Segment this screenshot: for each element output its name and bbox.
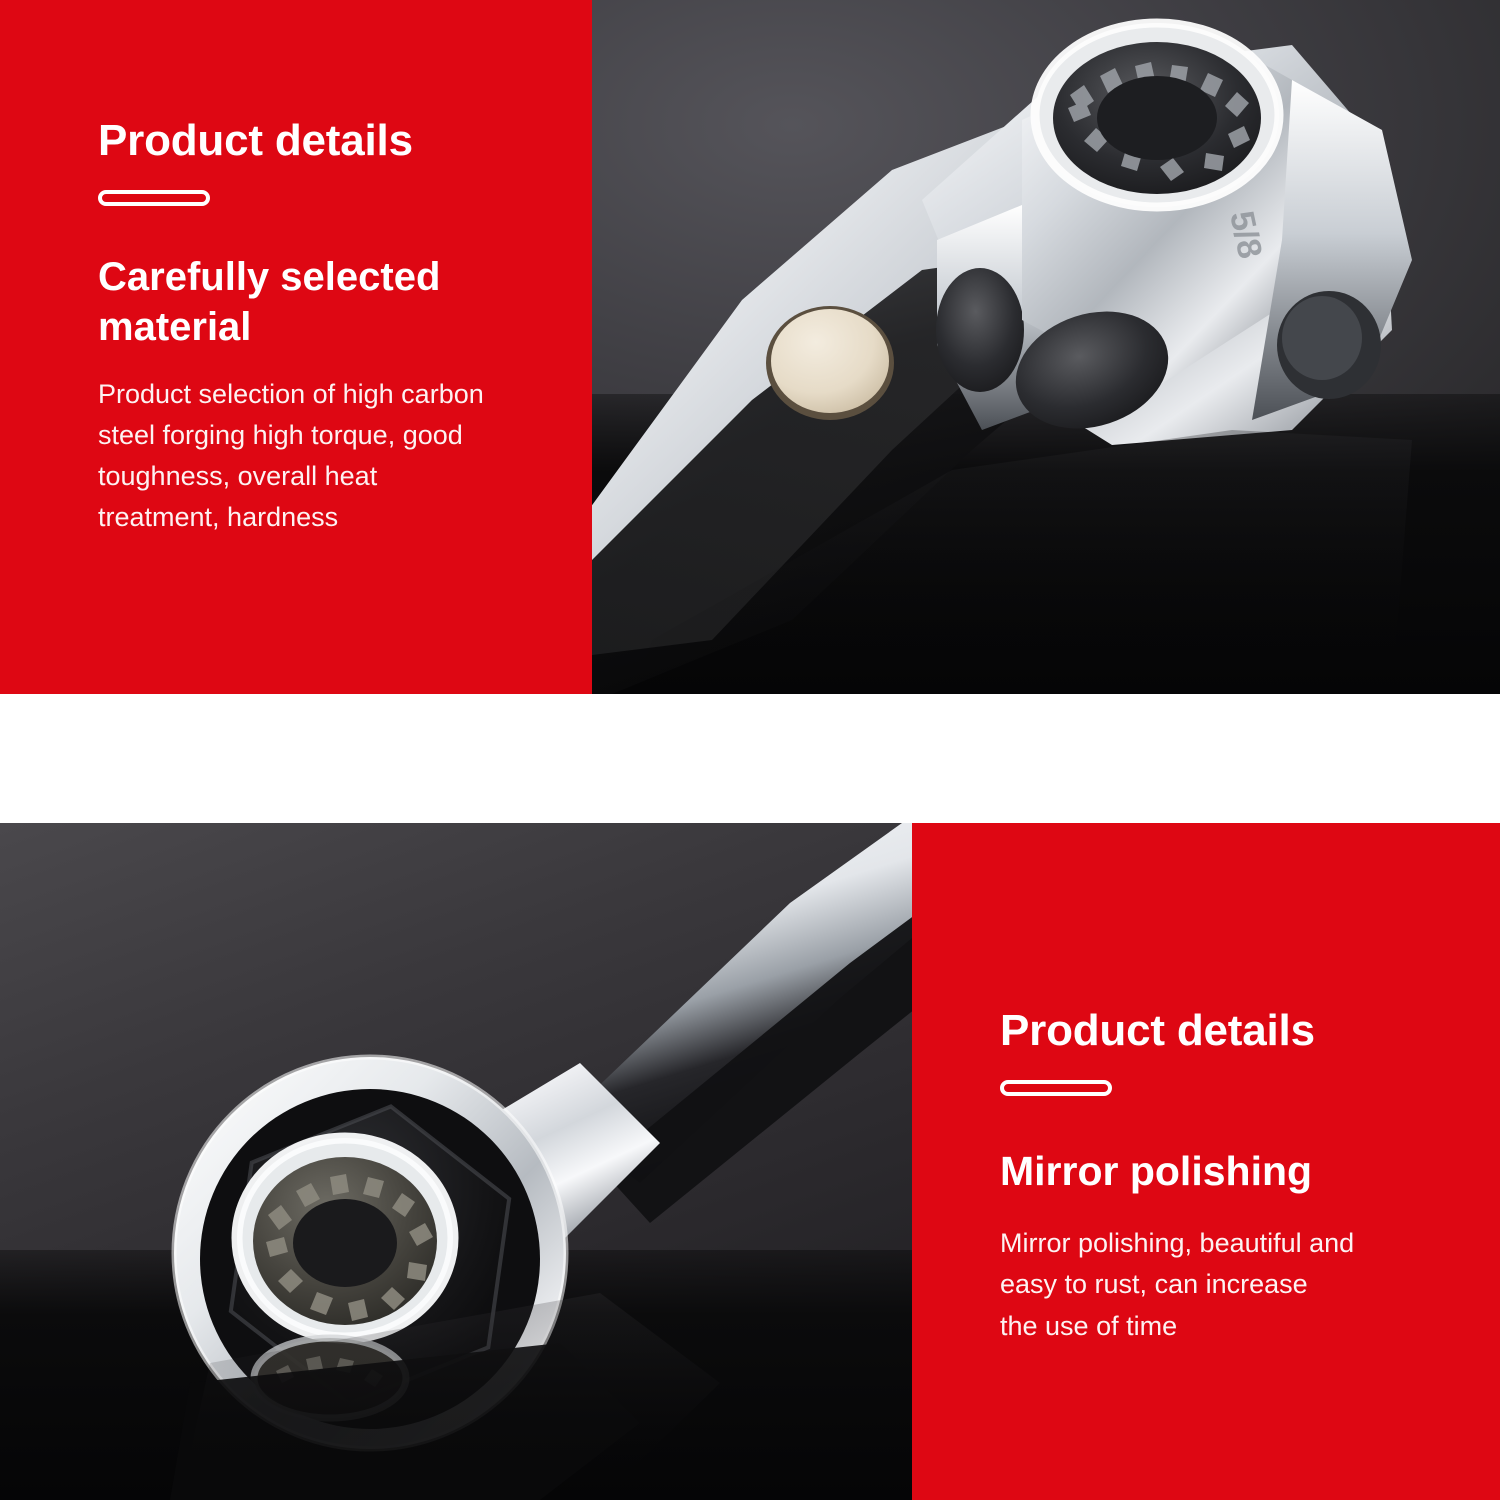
top-eyebrow-title: Product details xyxy=(98,118,532,164)
top-text-panel: Product details Carefully selected mater… xyxy=(0,0,592,694)
bottom-product-photo xyxy=(0,823,912,1500)
bottom-text-panel: Product details Mirror polishing Mirror … xyxy=(912,823,1500,1500)
bottom-eyebrow-title: Product details xyxy=(1000,1008,1440,1054)
section-separator xyxy=(0,694,1500,823)
top-socket-left-bore xyxy=(936,268,1024,392)
bottom-spline-insert xyxy=(237,1138,453,1338)
top-handle-copper-disc xyxy=(766,306,894,420)
top-feature-body: Product selection of high carbon steel f… xyxy=(98,352,532,538)
top-spline-socket-opening xyxy=(1035,23,1279,207)
top-wrench-illustration: 5/8 xyxy=(592,0,1500,694)
top-product-photo: 5/8 xyxy=(592,0,1500,694)
bottom-feature-body: Mirror polishing, beautiful and easy to … xyxy=(1000,1197,1420,1346)
bottom-wrench-illustration xyxy=(0,823,912,1500)
top-section: Product details Carefully selected mater… xyxy=(0,0,1500,694)
bottom-feature-heading: Mirror polishing xyxy=(1000,1096,1430,1197)
product-details-infographic: Product details Carefully selected mater… xyxy=(0,0,1500,1500)
pill-rule-icon xyxy=(1000,1080,1112,1096)
pill-rule-icon xyxy=(98,190,210,206)
top-feature-heading: Carefully selected material xyxy=(98,206,528,352)
bottom-section: Product details Mirror polishing Mirror … xyxy=(0,823,1500,1500)
